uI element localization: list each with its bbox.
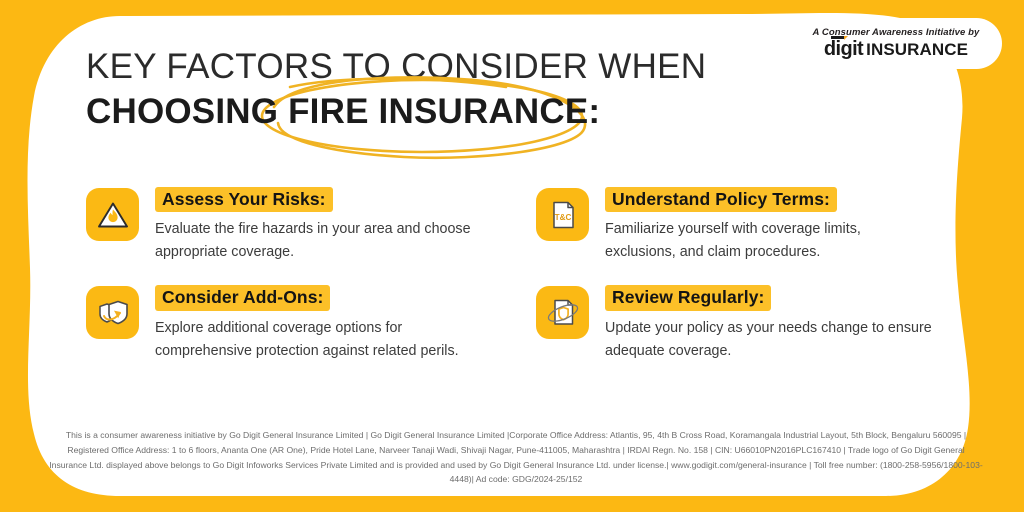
headline-line-2: CHOOSING FIRE INSURANCE:	[86, 93, 600, 131]
brand-badge: A Consumer Awareness Initiative by digit…	[790, 18, 1002, 69]
infographic-poster: A Consumer Awareness Initiative by digit…	[0, 0, 1024, 512]
logo-wordmark-text: digit	[824, 38, 863, 60]
feature-description: Familiarize yourself with coverage limit…	[605, 218, 935, 264]
feature-description: Evaluate the fire hazards in your area a…	[155, 218, 485, 264]
feature-title: Assess Your Risks:	[155, 187, 333, 212]
feature-item: Consider Add-Ons: Explore additional cov…	[86, 284, 536, 362]
fire-hazard-warning-icon	[86, 188, 139, 241]
feature-title: Review Regularly:	[605, 285, 771, 310]
headline-line-2-wrapper: CHOOSING FIRE INSURANCE:	[86, 93, 600, 131]
logo-triangle-accent	[844, 36, 848, 40]
terms-and-conditions-document-icon: T&C	[536, 188, 589, 241]
feature-description: Explore additional coverage options for …	[155, 317, 485, 363]
headline-block: KEY FACTORS TO CONSIDER WHEN CHOOSING FI…	[86, 48, 706, 131]
digit-insurance-logo: digit INSURANCE	[824, 39, 968, 59]
feature-item: Review Regularly: Update your policy as …	[536, 284, 946, 362]
logo-wordmark: digit	[824, 39, 863, 59]
svg-text:T&C: T&C	[554, 213, 571, 222]
feature-text: Assess Your Risks: Evaluate the fire haz…	[155, 186, 485, 264]
feature-title: Understand Policy Terms:	[605, 187, 837, 212]
legal-disclaimer-footer: This is a consumer awareness initiative …	[48, 428, 984, 487]
policy-review-icon	[536, 286, 589, 339]
feature-text: Review Regularly: Update your policy as …	[605, 284, 935, 362]
feature-text: Understand Policy Terms: Familiarize you…	[605, 186, 935, 264]
logo-bar-accent	[831, 36, 844, 39]
feature-item: Assess Your Risks: Evaluate the fire haz…	[86, 186, 536, 264]
headline-line-1: KEY FACTORS TO CONSIDER WHEN	[86, 48, 706, 86]
features-grid: Assess Your Risks: Evaluate the fire haz…	[86, 186, 946, 363]
feature-item: T&C Understand Policy Terms: Familiarize…	[536, 186, 946, 264]
feature-text: Consider Add-Ons: Explore additional cov…	[155, 284, 485, 362]
shield-add-on-icon	[86, 286, 139, 339]
feature-description: Update your policy as your needs change …	[605, 317, 935, 363]
feature-title: Consider Add-Ons:	[155, 285, 330, 310]
logo-suffix: INSURANCE	[866, 41, 968, 58]
